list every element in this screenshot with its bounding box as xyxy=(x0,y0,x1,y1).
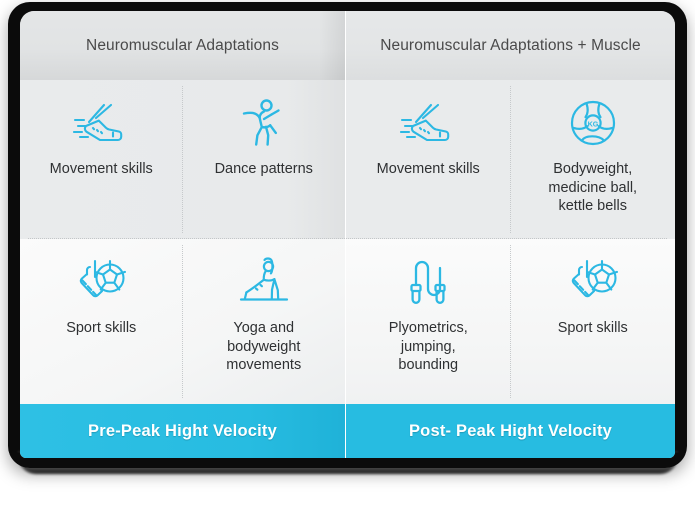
cell-label: Sport skills xyxy=(558,319,628,338)
cell-label: Sport skills xyxy=(66,319,136,338)
row-2-left-half: Sport skills xyxy=(20,239,345,404)
dancing-figure-icon xyxy=(232,94,296,152)
cell-bodyweight-medicine-ball[interactable]: KG Bodyweight, medicine ball, kettle bel… xyxy=(511,80,676,239)
row-1-left-half: Movement skills xyxy=(20,80,345,239)
running-shoe-icon xyxy=(396,94,460,152)
column-header-right: Neuromuscular Adaptations + Muscle xyxy=(345,11,675,80)
cell-sport-skills-pre[interactable]: Sport skills xyxy=(20,239,183,404)
cell-movement-skills-pre[interactable]: Movement skills xyxy=(20,80,183,239)
cell-label: Plyometrics, jumping, bounding xyxy=(389,319,468,375)
soccer-cleat-ball-icon xyxy=(561,253,625,311)
row-1-right-half: Movement skills KG Bodyweight, med xyxy=(345,80,675,239)
cell-label: Dance patterns xyxy=(215,160,313,179)
footer-label-pre-peak: Pre-Peak Hight Velocity xyxy=(20,404,345,458)
cell-label: Movement skills xyxy=(50,160,153,179)
cell-dance-patterns[interactable]: Dance patterns xyxy=(183,80,346,239)
comparison-card: Neuromuscular Adaptations Neuromuscular … xyxy=(20,11,675,458)
cell-movement-skills-post[interactable]: Movement skills xyxy=(346,80,511,239)
medicine-ball-icon: KG xyxy=(561,94,625,152)
yoga-pose-icon xyxy=(232,253,296,311)
footer-row: Pre-Peak Hight Velocity Post- Peak Hight… xyxy=(20,404,675,458)
footer-label-post-peak: Post- Peak Hight Velocity xyxy=(345,404,675,458)
medicine-ball-kg-text: KG xyxy=(587,120,598,129)
column-header-left: Neuromuscular Adaptations xyxy=(20,11,345,80)
soccer-cleat-ball-icon xyxy=(69,253,133,311)
content-row-1: Movement skills xyxy=(20,80,675,239)
row-2-right-half: Plyometrics, jumping, bounding Sp xyxy=(345,239,675,404)
cell-yoga-bodyweight[interactable]: Yoga and bodyweight movements xyxy=(183,239,346,404)
cell-sport-skills-post[interactable]: Sport skills xyxy=(511,239,676,404)
header-row: Neuromuscular Adaptations Neuromuscular … xyxy=(20,11,675,80)
content-row-2: Sport skills xyxy=(20,239,675,404)
cell-plyometrics[interactable]: Plyometrics, jumping, bounding xyxy=(346,239,511,404)
cell-label: Bodyweight, medicine ball, kettle bells xyxy=(548,160,637,216)
cell-label: Yoga and bodyweight movements xyxy=(226,319,301,375)
running-shoe-icon xyxy=(69,94,133,152)
cell-label: Movement skills xyxy=(377,160,480,179)
jump-rope-icon xyxy=(396,253,460,311)
